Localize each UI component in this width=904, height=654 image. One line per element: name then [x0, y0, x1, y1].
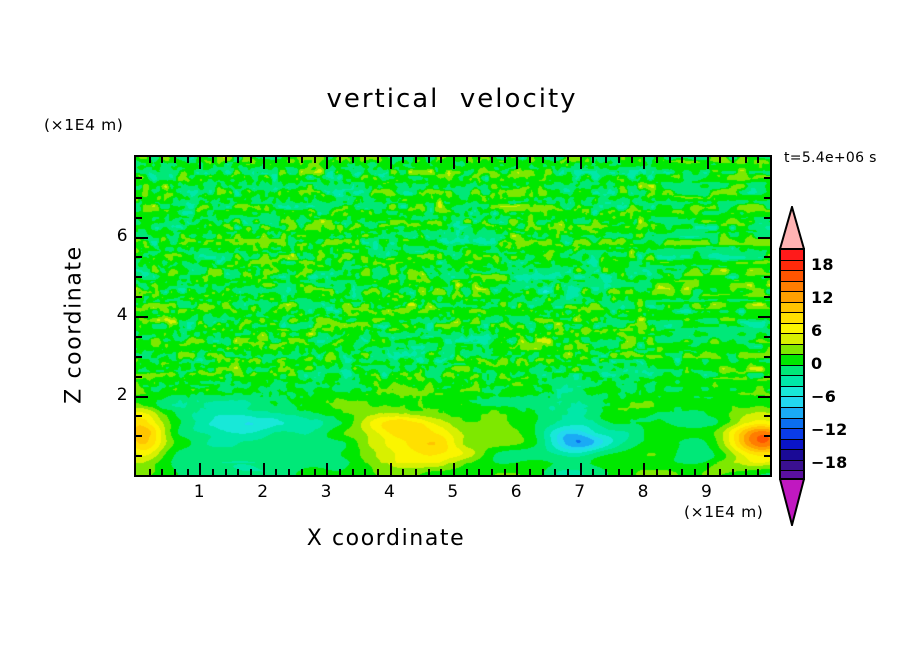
x-tick-top [402, 157, 404, 163]
y-tick-right [758, 396, 770, 398]
x-tick-top [567, 157, 569, 163]
y-tick-right [764, 336, 770, 338]
x-tick [643, 463, 645, 475]
x-tick-top [301, 157, 303, 163]
x-tick-top [580, 157, 582, 169]
x-tick [504, 469, 506, 475]
x-tick-top [275, 157, 277, 163]
y-tick [136, 435, 142, 437]
colorbar-band [781, 292, 803, 303]
x-tick-top [478, 157, 480, 163]
colorbar-band [781, 324, 803, 335]
colorbar-over-arrow-icon [779, 206, 805, 250]
x-tick-top [263, 157, 265, 169]
x-tick [516, 463, 518, 475]
x-tick-top [669, 157, 671, 163]
x-tick [529, 469, 531, 475]
x-tick-top [745, 157, 747, 163]
x-tick-top [440, 157, 442, 163]
x-tick [542, 469, 544, 475]
x-tick [250, 469, 252, 475]
y-tick [136, 197, 142, 199]
colorbar: 181260−6−12−18 [779, 206, 805, 524]
colorbar-band [781, 334, 803, 345]
x-tick [199, 463, 201, 475]
x-tick [592, 469, 594, 475]
x-tick-top [161, 157, 163, 163]
x-tick-label: 5 [433, 482, 473, 502]
y-tick [136, 276, 142, 278]
colorbar-band [781, 376, 803, 387]
colorbar-under-arrow-icon [779, 478, 805, 526]
x-tick [428, 469, 430, 475]
colorbar-band [781, 345, 803, 356]
x-tick [745, 469, 747, 475]
x-tick [212, 469, 214, 475]
x-tick-top [339, 157, 341, 163]
contour-plot-figure: vertical velocity (×1E4 m) (×1E4 m) t=5.… [0, 0, 904, 654]
x-tick [288, 469, 290, 475]
x-tick [364, 469, 366, 475]
colorbar-band [781, 282, 803, 293]
x-tick [301, 469, 303, 475]
x-tick-top [199, 157, 201, 169]
x-tick-top [719, 157, 721, 163]
x-tick-top [415, 157, 417, 163]
x-tick [491, 469, 493, 475]
x-tick-top [288, 157, 290, 163]
x-tick-top [174, 157, 176, 163]
x-tick [707, 463, 709, 475]
colorbar-tick-label: 12 [811, 288, 834, 307]
x-tick-top [250, 157, 252, 163]
x-tick-label: 7 [560, 482, 600, 502]
x-tick-label: 6 [496, 482, 536, 502]
colorbar-band [781, 408, 803, 419]
x-tick [669, 469, 671, 475]
colorbar-band [781, 366, 803, 377]
x-tick-top [516, 157, 518, 169]
x-tick-top [453, 157, 455, 169]
plot-area [134, 155, 772, 477]
x-tick [656, 469, 658, 475]
x-tick [275, 469, 277, 475]
x-tick [161, 469, 163, 475]
x-tick-top [618, 157, 620, 163]
y-tick-right [764, 296, 770, 298]
velocity-field-raster [136, 157, 770, 475]
x-tick-top [212, 157, 214, 163]
x-tick [339, 469, 341, 475]
x-tick-top [377, 157, 379, 163]
x-tick [174, 469, 176, 475]
x-tick [681, 469, 683, 475]
x-axis-title: X coordinate [0, 526, 772, 551]
y-tick [136, 455, 142, 457]
y-tick-right [758, 316, 770, 318]
x-tick-top [707, 157, 709, 169]
x-tick [440, 469, 442, 475]
x-tick [314, 469, 316, 475]
x-tick-top [592, 157, 594, 163]
colorbar-tick-label: −18 [811, 453, 848, 472]
x-tick [326, 463, 328, 475]
x-tick-top [225, 157, 227, 163]
x-tick-top [428, 157, 430, 163]
y-tick [136, 316, 148, 318]
x-axis-units-label: (×1E4 m) [684, 503, 763, 521]
colorbar-band [781, 355, 803, 366]
colorbar-band [781, 261, 803, 272]
y-tick-right [764, 435, 770, 437]
colorbar-band [781, 313, 803, 324]
x-tick [554, 469, 556, 475]
y-tick-right [764, 256, 770, 258]
x-tick [719, 469, 721, 475]
x-tick-top [656, 157, 658, 163]
colorbar-band [781, 440, 803, 451]
y-tick-right [758, 237, 770, 239]
y-axis-title: Z coordinate [62, 205, 87, 445]
x-tick [478, 469, 480, 475]
x-tick [415, 469, 417, 475]
x-tick-top [732, 157, 734, 163]
y-tick-label: 6 [88, 226, 128, 246]
y-tick-right [764, 415, 770, 417]
y-tick [136, 237, 148, 239]
x-tick-top [326, 157, 328, 169]
x-tick-top [237, 157, 239, 163]
colorbar-tick-label: 6 [811, 321, 822, 340]
y-tick [136, 177, 142, 179]
colorbar-band [781, 387, 803, 398]
colorbar-band [781, 429, 803, 440]
x-tick [631, 469, 633, 475]
timestamp-annotation: t=5.4e+06 s [784, 150, 877, 166]
x-tick [149, 469, 151, 475]
x-tick [263, 463, 265, 475]
y-tick-right [764, 276, 770, 278]
x-tick-label: 1 [179, 482, 219, 502]
colorbar-tick-label: −6 [811, 387, 836, 406]
x-tick-top [643, 157, 645, 169]
x-tick [237, 469, 239, 475]
colorbar-bands [779, 248, 805, 480]
x-tick [390, 463, 392, 475]
colorbar-band [781, 303, 803, 314]
colorbar-band [781, 419, 803, 430]
y-tick [136, 217, 142, 219]
x-tick-top [605, 157, 607, 163]
y-tick-right [764, 376, 770, 378]
y-tick-right [764, 177, 770, 179]
x-tick-label: 3 [306, 482, 346, 502]
x-tick-label: 4 [370, 482, 410, 502]
colorbar-band [781, 450, 803, 461]
colorbar-band [781, 250, 803, 261]
x-tick-top [529, 157, 531, 163]
colorbar-band [781, 397, 803, 408]
y-tick-right [764, 217, 770, 219]
x-tick [402, 469, 404, 475]
x-tick-label: 8 [623, 482, 663, 502]
x-tick [605, 469, 607, 475]
colorbar-tick-label: 18 [811, 255, 834, 274]
y-tick-label: 2 [88, 385, 128, 405]
x-tick-top [466, 157, 468, 163]
y-tick [136, 415, 142, 417]
y-tick [136, 376, 142, 378]
x-tick-top [491, 157, 493, 163]
x-tick-top [314, 157, 316, 163]
x-tick-top [187, 157, 189, 163]
colorbar-band [781, 461, 803, 472]
x-tick-top [631, 157, 633, 163]
colorbar-band [781, 271, 803, 282]
x-tick [732, 469, 734, 475]
x-tick [453, 463, 455, 475]
y-tick-right [764, 197, 770, 199]
y-tick-right [764, 455, 770, 457]
y-tick [136, 336, 142, 338]
x-tick [567, 469, 569, 475]
x-tick-top [352, 157, 354, 163]
y-axis-units-label: (×1E4 m) [44, 116, 123, 134]
x-tick-top [364, 157, 366, 163]
x-tick [352, 469, 354, 475]
x-tick [757, 469, 759, 475]
y-tick [136, 396, 148, 398]
x-tick [618, 469, 620, 475]
x-tick-label: 2 [243, 482, 283, 502]
x-tick-top [757, 157, 759, 163]
y-tick [136, 296, 142, 298]
x-tick [377, 469, 379, 475]
x-tick [225, 469, 227, 475]
x-tick-top [149, 157, 151, 163]
x-tick-top [554, 157, 556, 163]
y-tick [136, 256, 142, 258]
x-tick-top [542, 157, 544, 163]
x-tick-label: 9 [687, 482, 727, 502]
y-tick-label: 4 [88, 305, 128, 325]
y-tick-right [764, 356, 770, 358]
x-tick-top [390, 157, 392, 169]
x-tick [466, 469, 468, 475]
page-title: vertical velocity [0, 84, 904, 114]
x-tick-top [504, 157, 506, 163]
x-tick-top [681, 157, 683, 163]
y-tick [136, 356, 142, 358]
x-tick-top [694, 157, 696, 163]
x-tick [694, 469, 696, 475]
x-tick [187, 469, 189, 475]
x-tick [580, 463, 582, 475]
colorbar-tick-label: −12 [811, 420, 848, 439]
colorbar-tick-label: 0 [811, 354, 822, 373]
